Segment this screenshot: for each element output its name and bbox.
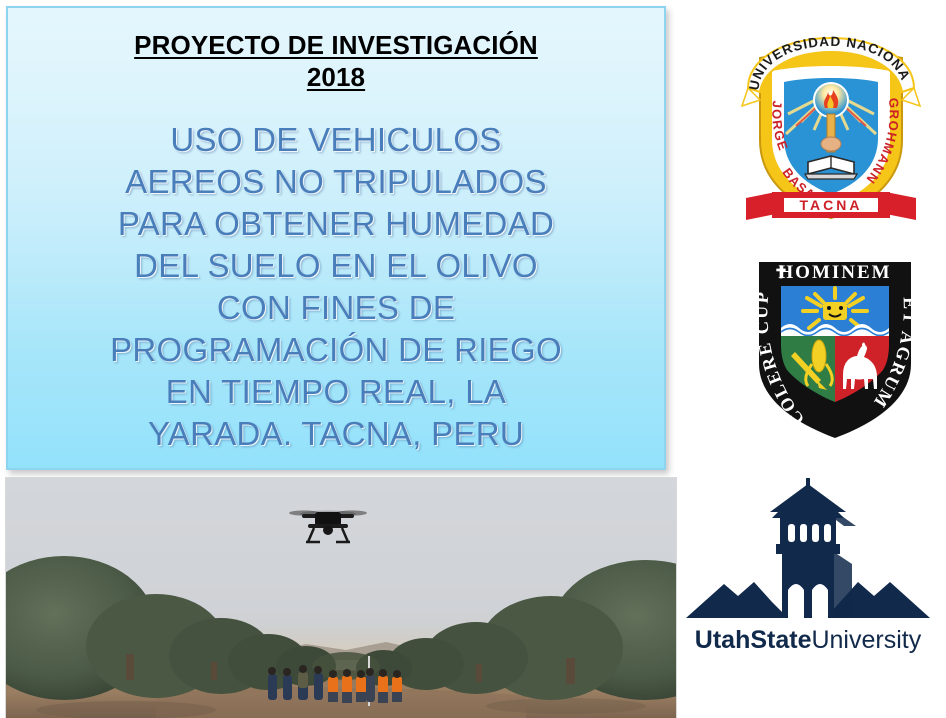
page-title-line-4: DEL SUELO EN EL OLIVO	[26, 245, 646, 287]
page-title-line-6: PROGRAMACIÓN DE RIEGO	[26, 329, 646, 371]
unjbg-crest-icon: UNIVERSIDAD NACIONAL JORGE GROHMANN BASA…	[726, 22, 936, 227]
usu-logo-icon: UtahStateUniversity	[676, 478, 940, 658]
usu-wordmark-bold: UtahState	[695, 626, 812, 654]
project-heading: PROYECTO DE INVESTIGACIÓN 2018	[134, 30, 538, 93]
drone-over-olive-orchard-photo	[6, 478, 676, 718]
title-card: PROYECTO DE INVESTIGACIÓN 2018 USO DE VE…	[6, 6, 666, 470]
orchard-photo-graphic	[6, 478, 676, 718]
agraria-motto-top: HOMINEM	[778, 262, 891, 283]
page-title-line-3: PARA OBTENER HUMEDAD	[26, 203, 646, 245]
page-title-line-2: AEREOS NO TRIPULADOS	[26, 161, 646, 203]
page-title-line-7: EN TIEMPO REAL, LA	[26, 371, 646, 413]
page-title-line-1: USO DE VEHICULOS	[26, 119, 646, 161]
unjbg-ribbon-text: TACNA	[800, 197, 863, 213]
people-group	[268, 665, 402, 703]
usu-wordmark-light: University	[811, 626, 921, 654]
agraria-crest-icon: HOMINEM ✝ ET AGRUM COLERE CUPIO	[745, 252, 925, 442]
svg-text:UtahStateUniversity: UtahStateUniversity	[695, 626, 922, 654]
agraria-shield-logo: HOMINEM ✝ ET AGRUM COLERE CUPIO	[745, 252, 925, 442]
page-title: USO DE VEHICULOS AEREOS NO TRIPULADOS PA…	[26, 119, 646, 454]
project-heading-line-1: PROYECTO DE INVESTIGACIÓN	[134, 30, 538, 62]
project-heading-line-2: 2018	[134, 62, 538, 94]
utah-state-university-logo: UtahStateUniversity	[676, 478, 940, 658]
unjbg-tacna-logo: UNIVERSIDAD NACIONAL JORGE GROHMANN BASA…	[726, 22, 936, 227]
page-title-line-5: CON FINES DE	[26, 287, 646, 329]
old-main-tower-icon	[686, 478, 930, 618]
cross-icon: ✝	[774, 263, 788, 282]
page-title-line-8: YARADA. TACNA, PERU	[26, 413, 646, 455]
